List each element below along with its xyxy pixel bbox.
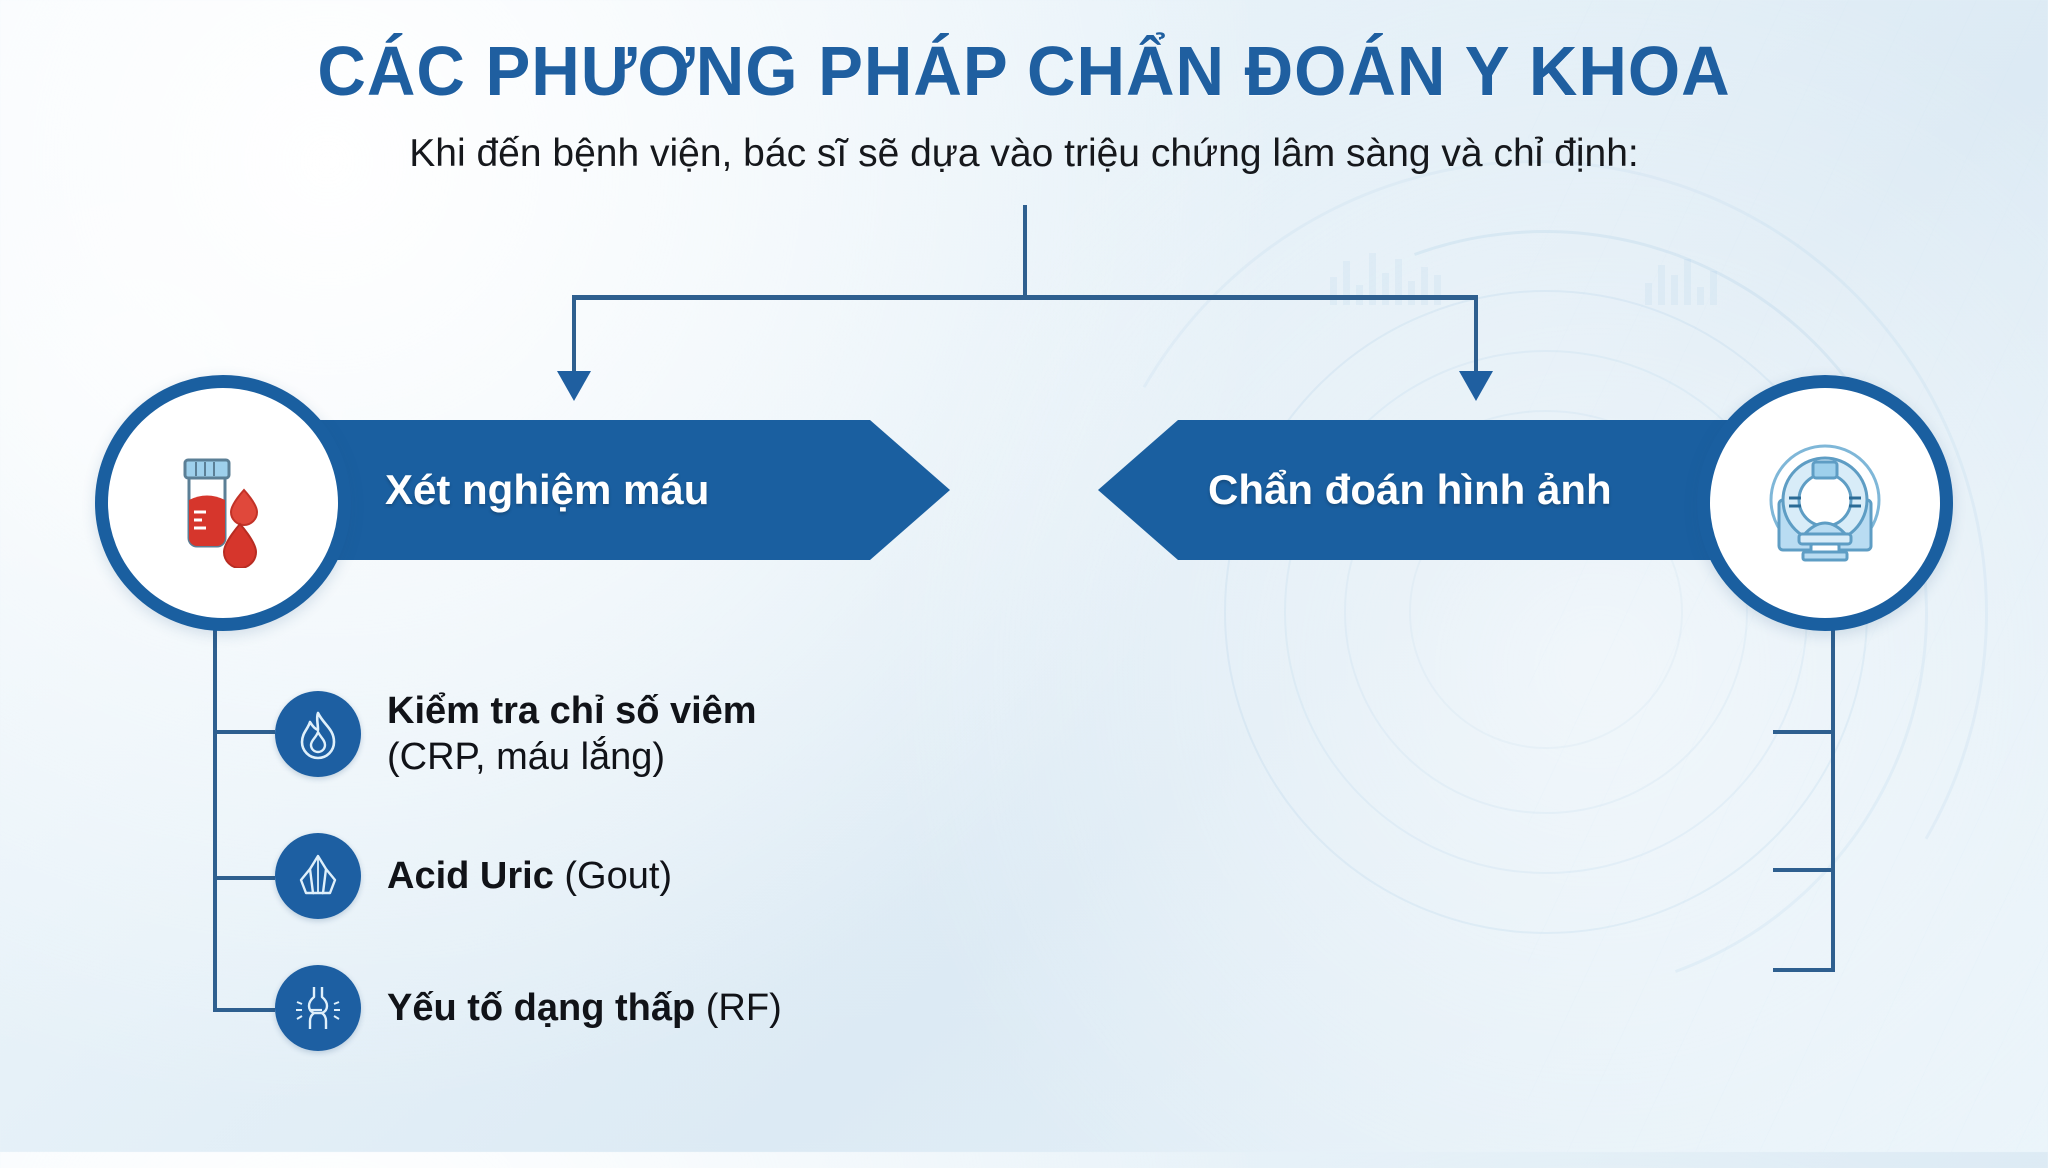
page-title: CÁC PHƯƠNG PHÁP CHẨN ĐOÁN Y KHOA (41, 34, 2007, 110)
list-item-title: Kiểm tra chỉ số viêm (387, 690, 757, 732)
list-item[interactable]: Kiểm tra chỉ số viêm (CRP, máu lắng) (275, 688, 757, 781)
list-item-text: Yếu tố dạng thấp (RF) (387, 985, 782, 1031)
banner-label: Xét nghiệm máu (385, 466, 709, 514)
banner-medical-imaging[interactable]: Chẩn đoán hình ảnh (1098, 420, 1798, 560)
banner-blood-test[interactable]: Xét nghiệm máu (250, 420, 950, 560)
connector-horizontal-bar (572, 295, 1478, 300)
list-item-title: Yếu tố dạng thấp (387, 987, 695, 1029)
page-subtitle: Khi đến bệnh viện, bác sĩ sẽ dựa vào tri… (0, 132, 2048, 176)
connector-drop-left (572, 295, 576, 375)
list-item-detail: (Gout) (554, 855, 672, 897)
banner-row: Xét nghiệm máu (0, 390, 2048, 600)
flame-icon (275, 691, 361, 777)
list-item[interactable]: Yếu tố dạng thấp (RF) (275, 965, 782, 1051)
badge-blood-test (95, 375, 351, 631)
badge-medical-imaging (1697, 375, 1953, 631)
list-item[interactable]: Acid Uric (Gout) (275, 833, 672, 919)
banner-label: Chẩn đoán hình ảnh (1208, 466, 1612, 514)
mri-scanner-icon (1755, 438, 1895, 568)
connector-drop-right (1474, 295, 1478, 375)
header: CÁC PHƯƠNG PHÁP CHẨN ĐOÁN Y KHOA Khi đến… (0, 34, 2048, 176)
blood-test-tube-icon (158, 438, 288, 568)
branch-tick (1773, 968, 1835, 972)
branch-spine (213, 620, 217, 1010)
branch-tick (213, 730, 275, 734)
branch-spine (1831, 620, 1835, 970)
branch-tick (213, 876, 275, 880)
infographic-canvas: CÁC PHƯƠNG PHÁP CHẨN ĐOÁN Y KHOA Khi đến… (0, 0, 2048, 1152)
branch-tick (213, 1008, 275, 1012)
list-item-text: Acid Uric (Gout) (387, 853, 672, 899)
connector-tree (0, 205, 2048, 415)
branch-tick (1773, 868, 1835, 872)
list-item-detail: (RF) (695, 987, 782, 1029)
crystal-icon (275, 833, 361, 919)
list-item-title: Acid Uric (387, 855, 554, 897)
knee-joint-icon (275, 965, 361, 1051)
list-item-detail: (CRP, máu lắng) (387, 734, 757, 780)
branch-tick (1773, 730, 1835, 734)
list-item-text: Kiểm tra chỉ số viêm (CRP, máu lắng) (387, 688, 757, 781)
connector-stem (1023, 205, 1027, 297)
